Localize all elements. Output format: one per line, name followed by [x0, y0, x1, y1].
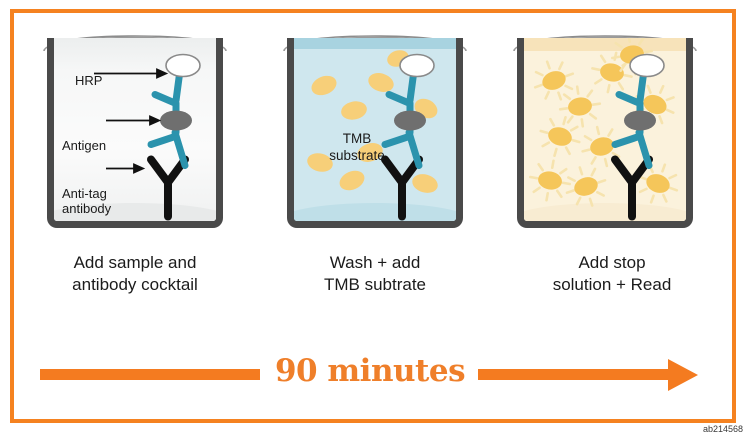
antigen-arrowhead-icon: [150, 117, 159, 125]
hrp-enzyme-icon: [400, 55, 434, 77]
immunocomplex-diagram: [294, 38, 456, 221]
caption-panel-2: Wash + add TMB subtrate: [250, 252, 500, 296]
timeline-arrowhead-icon: [668, 359, 698, 391]
immunocomplex-diagram: [524, 38, 686, 221]
timeline-bar-right: [478, 369, 673, 380]
capture-antibody-icon: [385, 160, 419, 217]
hrp-arrowhead-icon: [157, 70, 166, 78]
caption-panel-1: Add sample and antibody cocktail: [10, 252, 260, 296]
panel-wash-tmb: TMB substrate: [282, 26, 468, 231]
timeline-bar-left: [40, 369, 260, 380]
timeline-arrow: 90 minutes: [0, 345, 750, 405]
label-hrp: HRP: [75, 74, 102, 89]
timeline-label: 90 minutes: [270, 353, 470, 389]
panel-stop-read: [512, 26, 698, 231]
capture-antibody-icon: [615, 160, 649, 217]
label-tmb-substrate: TMB substrate: [314, 131, 400, 165]
antigen-icon: [394, 111, 426, 131]
label-antigen: Antigen: [62, 139, 106, 154]
assay-step-panels: HRP Antigen Anti-tag antibody: [0, 0, 750, 250]
caption-panel-3: Add stop solution + Read: [487, 252, 737, 296]
antigen-icon: [624, 111, 656, 131]
panel-add-sample: HRP Antigen Anti-tag antibody: [42, 26, 228, 231]
watermark-code: ab214568: [703, 424, 743, 434]
antibody-arrowhead-icon: [134, 165, 143, 173]
label-anti-tag-antibody: Anti-tag antibody: [62, 187, 111, 217]
hrp-enzyme-icon: [630, 55, 664, 77]
microplate-well: [517, 38, 693, 228]
